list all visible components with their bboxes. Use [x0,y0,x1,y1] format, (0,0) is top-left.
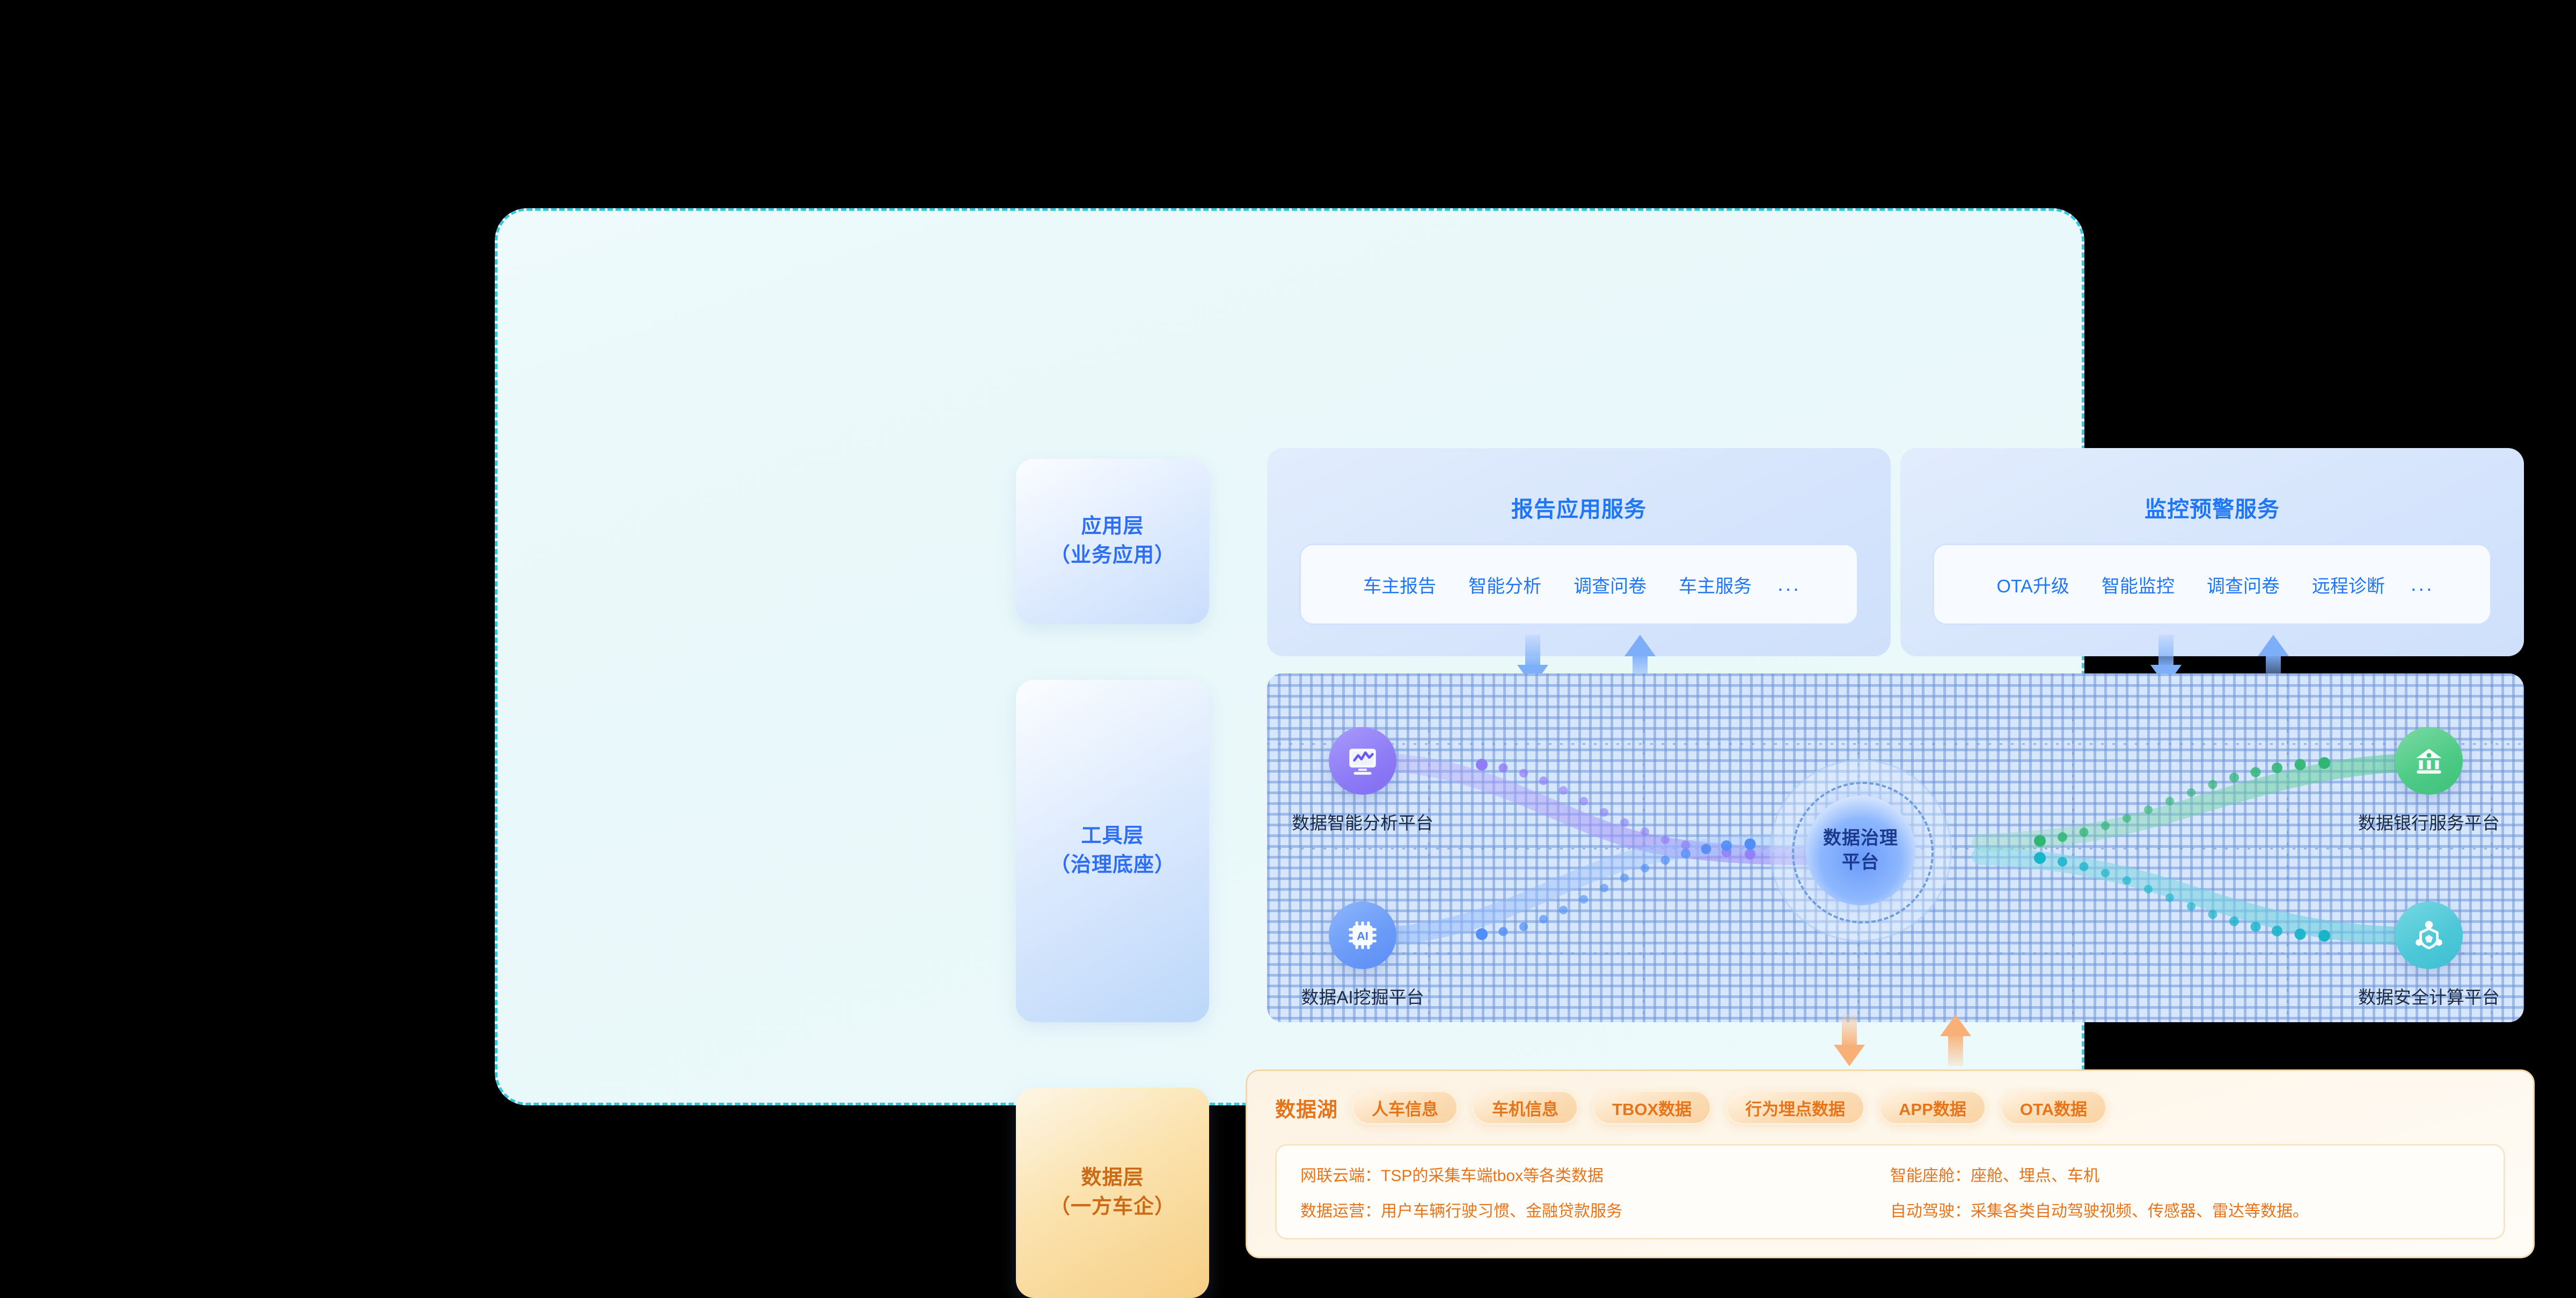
data-lake-pill-0[interactable]: 人车信息 [1352,1090,1458,1125]
layer-application-line2: （业务应用） [1050,541,1175,570]
arrow-up-datalake [1940,1015,1971,1066]
service-card-monitor-title: 监控预警服务 [1900,491,2524,523]
tag-report-2[interactable]: 调查问卷 [1557,571,1663,598]
bank-icon [2395,727,2463,795]
tag-report-1[interactable]: 智能分析 [1452,571,1557,598]
layer-application-line1: 应用层 [1081,512,1144,541]
platform-label-ai-mining: 数据AI挖掘平台 [1277,983,1448,1009]
hub-core: 数据治理 平台 [1806,796,1915,905]
arrow-down-datalake [1834,1015,1865,1066]
data-lake-pill-3[interactable]: 行为埋点数据 [1725,1090,1865,1125]
service-card-report-title: 报告应用服务 [1267,491,1891,523]
platform-node-ai-mining[interactable]: AI 数据AI挖掘平台 [1277,901,1448,1009]
data-lake-pill-label-0: 人车信息 [1372,1096,1438,1120]
layer-data-line1: 数据层 [1081,1164,1144,1193]
platform-node-data-bank[interactable]: 数据银行服务平台 [2343,727,2515,834]
diagram-canvas: 应用层 （业务应用） 工具层 （治理底座） 数据层 （一方车企） 报告应用服务 … [0,0,2576,1288]
data-lake-desc-right-1: 自动驾驶：采集各类自动驾驶视频、传感器、雷达等数据。 [1890,1198,2480,1221]
architecture-container: 应用层 （业务应用） 工具层 （治理底座） 数据层 （一方车企） 报告应用服务 … [495,208,2084,1105]
tag-monitor-0[interactable]: OTA升级 [1980,571,2085,598]
tag-monitor-3[interactable]: 远程诊断 [2296,571,2401,598]
tag-monitor-2[interactable]: 调查问卷 [2191,571,2296,598]
data-lake-pill-2[interactable]: TBOX数据 [1592,1090,1711,1125]
platform-label-analysis: 数据智能分析平台 [1277,809,1448,834]
data-lake-pill-label-1: 车机信息 [1492,1096,1558,1120]
data-lake-pill-5[interactable]: OTA数据 [2000,1090,2107,1125]
tag-monitor-more[interactable]: ... [2401,573,2444,596]
data-lake-pill-label-4: APP数据 [1899,1096,1966,1120]
service-card-monitor[interactable]: 监控预警服务 OTA升级 智能监控 调查问卷 远程诊断 ... [1900,448,2524,656]
hub-title-line1: 数据治理 [1823,826,1898,850]
monitor-chart-icon [1329,727,1396,795]
layer-tool-line1: 工具层 [1081,822,1144,851]
data-lake-pill-label-2: TBOX数据 [1612,1096,1692,1120]
data-lake-panel: 数据湖 人车信息 车机信息 TBOX数据 行为埋点数据 APP数据 OTA数据 … [1246,1069,2535,1258]
data-lake-header: 数据湖 人车信息 车机信息 TBOX数据 行为埋点数据 APP数据 OTA数据 [1275,1090,2107,1125]
data-lake-pill-label-5: OTA数据 [2020,1096,2087,1120]
tag-monitor-1[interactable]: 智能监控 [2085,571,2191,598]
data-lake-pill-label-3: 行为埋点数据 [1745,1096,1845,1120]
central-hub[interactable]: 数据治理 平台 [1769,759,1952,942]
data-lake-description-card: 网联云端：TSP的采集车端tbox等各类数据 数据运营：用户车辆行驶习惯、金融贷… [1275,1144,2505,1240]
layer-tool-line2: （治理底座） [1050,851,1175,880]
data-lake-pill-1[interactable]: 车机信息 [1472,1090,1578,1125]
tag-report-3[interactable]: 车主服务 [1663,571,1768,598]
platform-label-secure-compute: 数据安全计算平台 [2343,983,2515,1009]
data-lake-desc-left-1: 数据运营：用户车辆行驶习惯、金融贷款服务 [1300,1198,1890,1221]
hub-title-line2: 平台 [1842,850,1879,875]
service-card-monitor-tagbar: OTA升级 智能监控 调查问卷 远程诊断 ... [1933,544,2492,625]
tag-report-more[interactable]: ... [1768,573,1811,596]
layer-chip-application[interactable]: 应用层 （业务应用） [1016,459,1209,624]
tag-report-0[interactable]: 车主报告 [1347,571,1452,598]
svg-text:AI: AI [1357,929,1368,942]
data-lake-desc-column-right: 智能座舱：座舱、埋点、车机 自动驾驶：采集各类自动驾驶视频、传感器、雷达等数据。 [1890,1164,2480,1220]
service-card-report[interactable]: 报告应用服务 车主报告 智能分析 调查问卷 车主服务 ... [1267,448,1891,656]
layer-chip-data[interactable]: 数据层 （一方车企） [1016,1088,1209,1298]
data-lake-desc-left-0: 网联云端：TSP的采集车端tbox等各类数据 [1300,1162,1890,1186]
service-card-report-tagbar: 车主报告 智能分析 调查问卷 车主服务 ... [1299,544,1858,625]
data-lake-pill-4[interactable]: APP数据 [1879,1090,1986,1125]
layer-chip-tool[interactable]: 工具层 （治理底座） [1016,680,1209,1022]
data-lake-desc-right-0: 智能座舱：座舱、埋点、车机 [1890,1162,2480,1186]
platform-label-data-bank: 数据银行服务平台 [2343,809,2515,834]
shield-network-icon [2395,901,2463,969]
layer-data-line2: （一方车企） [1050,1193,1175,1222]
data-lake-desc-column-left: 网联云端：TSP的采集车端tbox等各类数据 数据运营：用户车辆行驶习惯、金融贷… [1300,1164,1890,1220]
ai-chip-icon: AI [1329,901,1396,969]
data-lake-title: 数据湖 [1275,1093,1338,1123]
platform-node-analysis[interactable]: 数据智能分析平台 [1277,727,1448,834]
platform-node-secure-compute[interactable]: 数据安全计算平台 [2343,901,2515,1009]
